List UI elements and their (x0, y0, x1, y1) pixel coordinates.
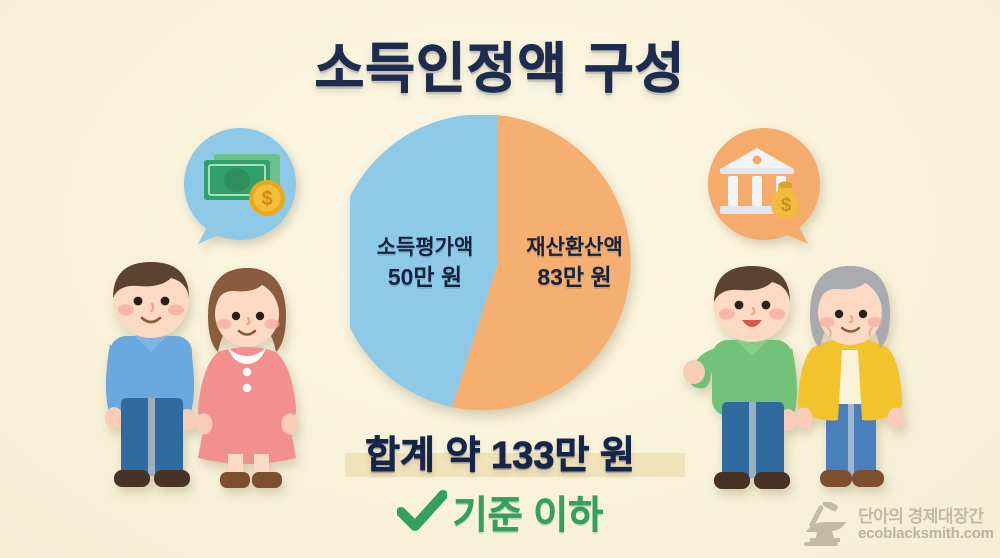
speech-bubble-income: $ (178, 126, 302, 251)
pie-label-income: 소득평가액 50만 원 (356, 235, 494, 291)
bank-building-icon: $ (706, 126, 830, 246)
pie-label-income-name: 소득평가액 (377, 236, 474, 259)
pie-label-asset: 재산환산액 83만 원 (502, 235, 647, 291)
pie-label-income-amount: 50만 원 (356, 263, 494, 291)
check-mark-icon (397, 490, 447, 534)
pie-chart: 소득평가액 50만 원 재산환산액 83만 원 (350, 115, 646, 411)
pie-label-asset-amount: 83만 원 (502, 263, 647, 291)
watermark: 단아의 경제대장간 ecoblacksmith.com (800, 498, 996, 552)
speech-bubble-asset: $ (706, 126, 830, 251)
total-amount-text: 합계 약 133만 원 (365, 424, 635, 479)
svg-text:$: $ (261, 188, 272, 210)
infographic-canvas: 소득인정액 구성 $ (0, 0, 1000, 558)
watermark-text: 단아의 경제대장간 ecoblacksmith.com (858, 508, 994, 542)
anvil-hammer-icon (800, 502, 852, 548)
total-row: 합계 약 133만 원 (0, 424, 1000, 479)
watermark-url: ecoblacksmith.com (858, 526, 994, 542)
svg-text:$: $ (781, 195, 792, 216)
page-title: 소득인정액 구성 (0, 24, 1000, 103)
status-badge: 기준 이하 (453, 484, 603, 539)
pie-label-asset-name: 재산환산액 (526, 236, 623, 259)
money-bill-icon: $ (178, 126, 302, 246)
watermark-brand: 단아의 경제대장간 (858, 508, 994, 526)
